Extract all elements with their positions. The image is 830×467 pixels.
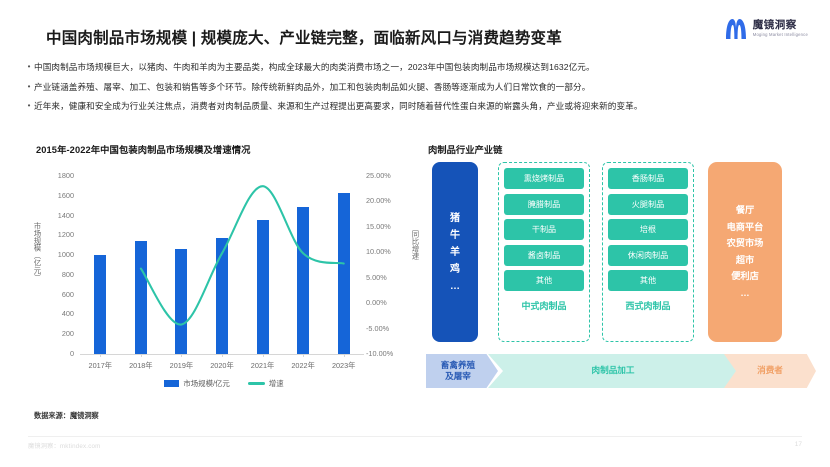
raw-item: 猪 — [450, 211, 460, 226]
page-number: 17 — [795, 441, 802, 448]
logo-name-en: Moging Market Intelligence — [753, 33, 808, 37]
logo-name-cn: 魔镜洞察 — [753, 20, 808, 31]
raw-item: 羊 — [450, 245, 460, 260]
slide-root: 中国肉制品市场规模 | 规模庞大、产业链完整，面临新风口与消费趋势变革 魔镜洞察… — [0, 0, 830, 467]
consumer-item: 超市 — [736, 254, 754, 268]
legend-item-bars: 市场规模/亿元 — [164, 378, 229, 389]
chip-item: 火腿制品 — [608, 194, 688, 215]
bullet-dot-icon: • — [24, 80, 34, 94]
chip-item: 酱卤制品 — [504, 245, 584, 266]
western-meat-group: 香肠制品 火腿制品 培根 休闲肉制品 其他 西式肉制品 — [602, 162, 694, 342]
chain-title: 肉制品行业产业链 — [428, 142, 502, 156]
flow-stage-label: 肉制品加工 — [592, 365, 635, 377]
brand-logo: 魔镜洞察 Moging Market Intelligence — [724, 18, 808, 40]
chart-source-note: 数据来源：魔镜洞察 — [34, 411, 99, 421]
growth-rate-line — [28, 162, 420, 382]
chart-legend: 市场规模/亿元 增速 — [28, 378, 420, 389]
value-chain-diagram: 肉制品行业产业链 猪 牛 羊 鸡 … 熏烧烤制品 腌腊制品 干制品 酱卤制品 其… — [420, 142, 820, 400]
bullet-text: 产业链涵盖养殖、屠宰、加工、包装和销售等多个环节。除传统新鲜肉品外，加工和包装肉… — [34, 80, 590, 95]
raw-item: 鸡 — [450, 262, 460, 277]
chart-plot-area: 市场规模（亿元） 同比增速 18001600140012001000800600… — [28, 162, 420, 382]
bullet-text: 中国肉制品市场规模巨大，以猪肉、牛肉和羊肉为主要品类，构成全球最大的肉类消费市场… — [34, 60, 595, 75]
flow-stage-label: 畜禽养殖及屠宰 — [441, 360, 483, 383]
consumer-channel-column: 餐厅 电商平台 农贸市场 超市 便利店 … — [708, 162, 782, 342]
chip-item: 其他 — [608, 270, 688, 291]
chart-title: 2015年-2022年中国包装肉制品市场规模及增速情况 — [36, 142, 251, 156]
flow-stage-breeding: 畜禽养殖及屠宰 — [426, 354, 498, 388]
consumer-item: 餐厅 — [736, 204, 754, 218]
market-size-chart: 2015年-2022年中国包装肉制品市场规模及增速情况 市场规模（亿元） 同比增… — [28, 142, 420, 422]
slide-header: 中国肉制品市场规模 | 规模庞大、产业链完整，面临新风口与消费趋势变革 魔镜洞察… — [0, 0, 830, 56]
consumer-item: 便利店 — [731, 270, 759, 284]
consumer-item: 电商平台 — [727, 221, 764, 235]
chain-flow-bar: 畜禽养殖及屠宰 肉制品加工 消费者 — [426, 354, 816, 388]
legend-label: 增速 — [269, 378, 284, 389]
list-item: • 产业链涵盖养殖、屠宰、加工、包装和销售等多个环节。除传统新鲜肉品外，加工和包… — [24, 80, 814, 95]
consumer-item: 农贸市场 — [727, 237, 764, 251]
logo-text: 魔镜洞察 Moging Market Intelligence — [753, 20, 808, 37]
bullet-text: 近年来，健康和安全成为行业关注焦点，消费者对肉制品质量、来源和生产过程提出更高要… — [34, 99, 643, 114]
list-item: • 近年来，健康和安全成为行业关注焦点，消费者对肉制品质量、来源和生产过程提出更… — [24, 99, 814, 114]
bullet-list: • 中国肉制品市场规模巨大，以猪肉、牛肉和羊肉为主要品类，构成全球最大的肉类消费… — [24, 60, 814, 119]
chip-item: 香肠制品 — [608, 168, 688, 189]
flow-stage-processing: 肉制品加工 — [488, 354, 738, 388]
raw-item: … — [450, 279, 460, 294]
chip-item: 腌腊制品 — [504, 194, 584, 215]
bullet-dot-icon: • — [24, 99, 34, 113]
logo-m-icon — [724, 18, 748, 40]
page-title: 中国肉制品市场规模 | 规模庞大、产业链完整，面临新风口与消费趋势变革 — [46, 26, 562, 48]
group-caption: 中式肉制品 — [521, 299, 566, 312]
chip-item: 干制品 — [504, 219, 584, 240]
footer-divider — [28, 436, 802, 437]
legend-swatch-icon — [164, 380, 179, 387]
raw-item: 牛 — [450, 228, 460, 243]
chinese-meat-group: 熏烧烤制品 腌腊制品 干制品 酱卤制品 其他 中式肉制品 — [498, 162, 590, 342]
legend-label: 市场规模/亿元 — [183, 378, 229, 389]
group-caption: 西式肉制品 — [625, 299, 670, 312]
chip-item: 休闲肉制品 — [608, 245, 688, 266]
footer-site: 魔镜洞察：mktindex.com — [28, 441, 101, 450]
chip-item: 熏烧烤制品 — [504, 168, 584, 189]
legend-item-line: 增速 — [248, 378, 284, 389]
flow-stage-label: 消费者 — [757, 365, 783, 377]
chip-item: 培根 — [608, 219, 688, 240]
legend-swatch-icon — [248, 382, 265, 385]
list-item: • 中国肉制品市场规模巨大，以猪肉、牛肉和羊肉为主要品类，构成全球最大的肉类消费… — [24, 60, 814, 75]
chip-item: 其他 — [504, 270, 584, 291]
consumer-item: … — [740, 287, 749, 301]
flow-stage-consumer: 消费者 — [724, 354, 816, 388]
bullet-dot-icon: • — [24, 60, 34, 74]
raw-material-column: 猪 牛 羊 鸡 … — [432, 162, 478, 342]
